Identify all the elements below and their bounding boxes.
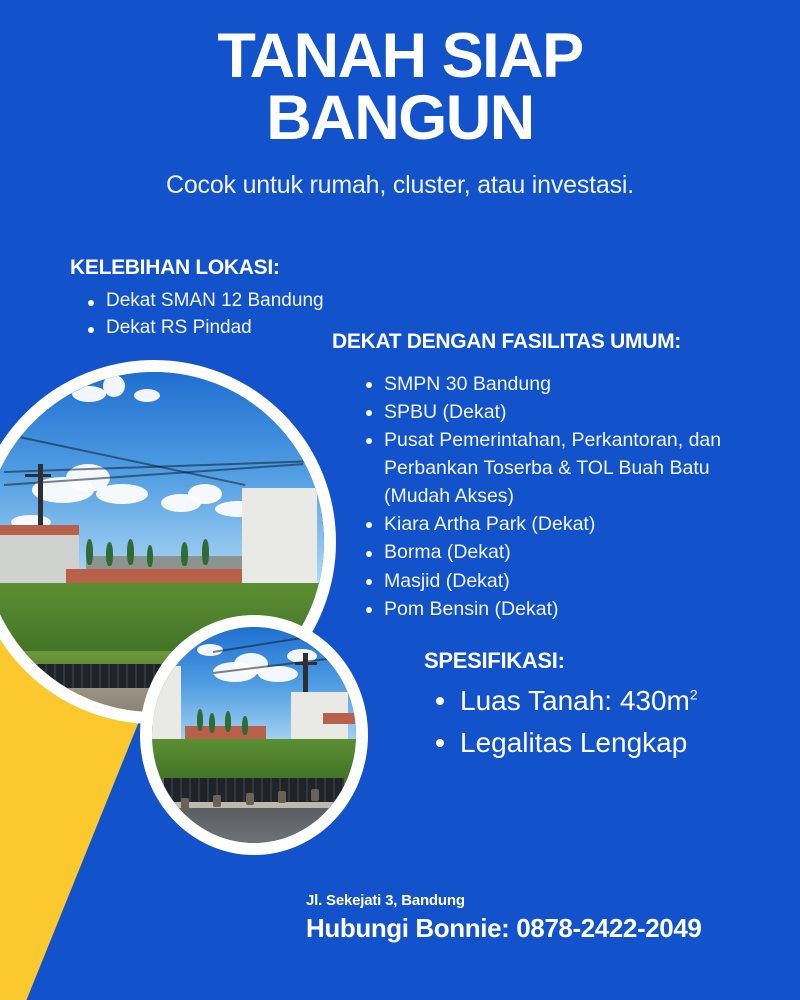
page-title: TANAH SIAP BANGUN <box>0 0 800 149</box>
asphalt-road <box>152 808 356 843</box>
bollard <box>181 798 189 810</box>
tree <box>202 539 209 565</box>
bollard <box>278 791 286 803</box>
list-item: Kiara Artha Park (Dekat) <box>362 510 772 538</box>
tree <box>127 539 134 565</box>
cloud <box>72 386 106 402</box>
cloud <box>134 389 160 402</box>
tree <box>209 713 215 733</box>
tree <box>197 709 203 731</box>
spesifikasi-heading: SPESIFIKASI: <box>424 648 784 674</box>
utility-pole-crossarm <box>25 474 51 477</box>
spesifikasi-list: Luas Tanah: 430m2 Legalitas Lengkap <box>424 680 784 764</box>
bollard <box>246 793 254 805</box>
list-item: Luas Tanah: 430m2 <box>430 680 784 722</box>
property-photo-small <box>140 615 368 855</box>
page-subtitle: Cocok untuk rumah, cluster, atau investa… <box>0 149 800 200</box>
tree <box>86 539 93 565</box>
fasilitas-list: SMPN 30 Bandung SPBU (Dekat) Pusat Pemer… <box>332 370 772 623</box>
section-spesifikasi: SPESIFIKASI: Luas Tanah: 430m2 Legalitas… <box>424 648 784 764</box>
poster-canvas: TANAH SIAP BANGUN Cocok untuk rumah, clu… <box>0 0 800 1000</box>
list-item: Dekat SMAN 12 Bandung <box>84 288 400 315</box>
bollard <box>213 795 221 807</box>
roof-left <box>0 525 79 535</box>
contact-phone[interactable]: Hubungi Bonnie: 0878-2422-2049 <box>306 913 701 944</box>
tree <box>242 716 248 735</box>
list-item: Pusat Pemerintahan, Perkantoran, dan Per… <box>362 426 772 510</box>
tree <box>147 545 153 567</box>
bollard <box>311 789 319 801</box>
section-fasilitas-umum: DEKAT DENGAN FASILITAS UMUM: SMPN 30 Ban… <box>332 330 772 623</box>
poster-footer: Jl. Sekejati 3, Bandung Hubungi Bonnie: … <box>306 892 701 944</box>
title-line-2: BANGUN <box>0 88 800 150</box>
tree <box>181 542 188 566</box>
legalitas-label: Legalitas Lengkap <box>460 727 687 758</box>
list-item: Masjid (Dekat) <box>362 567 772 595</box>
list-item: SMPN 30 Bandung <box>362 370 772 398</box>
address-text: Jl. Sekejati 3, Bandung <box>306 892 701 909</box>
building-right <box>242 488 317 597</box>
photo-scene <box>152 627 356 843</box>
roof-red-right <box>323 713 356 724</box>
luas-tanah-superscript: 2 <box>690 687 698 703</box>
roof-middle-red <box>66 569 243 583</box>
fasilitas-heading: DEKAT DENGAN FASILITAS UMUM: <box>332 330 772 354</box>
cloud <box>258 666 298 682</box>
list-item: Legalitas Lengkap <box>430 722 784 764</box>
kelebihan-heading: KELEBIHAN LOKASI: <box>70 256 400 280</box>
list-item: Borma (Dekat) <box>362 538 772 566</box>
list-item: SPBU (Dekat) <box>362 398 772 426</box>
poster-header: TANAH SIAP BANGUN Cocok untuk rumah, clu… <box>0 0 800 200</box>
utility-pole-crossarm <box>295 662 317 665</box>
list-item: Pom Bensin (Dekat) <box>362 595 772 623</box>
title-line-1: TANAH SIAP <box>217 21 582 91</box>
luas-tanah-label: Luas Tanah: 430m <box>460 685 690 716</box>
